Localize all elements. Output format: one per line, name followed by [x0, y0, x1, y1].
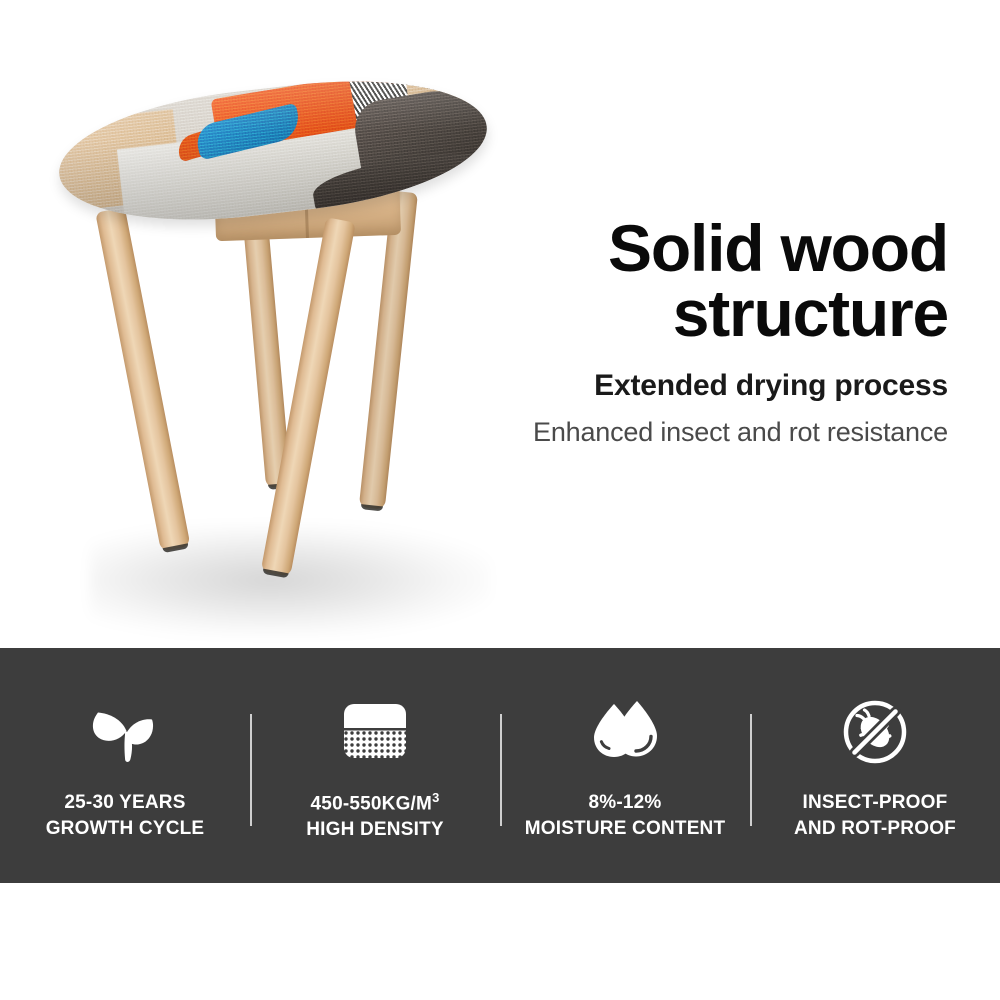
chair-leg-front-left [95, 207, 190, 551]
feature-bar: 25-30 YEARS GROWTH CYCLE 4 [0, 648, 1000, 883]
feature-label-line-1: 25-30 YEARS [46, 790, 205, 816]
no-insect-icon [833, 696, 917, 768]
feature-item-moisture: 8%-12% MOISTURE CONTENT [500, 648, 750, 883]
feature-label-line-2: GROWTH CYCLE [46, 816, 205, 842]
supporting-text: Enhanced insect and rot resistance [428, 417, 948, 448]
feature-label-line-1: 450-550KG/M3 [306, 789, 444, 817]
feature-label: 25-30 YEARS GROWTH CYCLE [46, 790, 205, 841]
product-feature-banner: Solid wood structure Extended drying pro… [0, 0, 1000, 1000]
feature-item-insect-proof: INSECT-PROOF AND ROT-PROOF [750, 648, 1000, 883]
feature-label: 450-550KG/M3 HIGH DENSITY [306, 789, 444, 843]
headline-line-1: Solid wood [428, 216, 948, 281]
hero-copy-block: Solid wood structure Extended drying pro… [428, 216, 948, 448]
feature-label: 8%-12% MOISTURE CONTENT [525, 790, 726, 841]
feature-item-growth-cycle: 25-30 YEARS GROWTH CYCLE [0, 648, 250, 883]
page-title: Solid wood structure [428, 216, 948, 347]
density-block-icon [333, 695, 417, 767]
feature-item-density: 450-550KG/M3 HIGH DENSITY [250, 648, 500, 883]
feature-label-line-1: INSECT-PROOF [794, 790, 956, 816]
feature-label-line-2: HIGH DENSITY [306, 817, 444, 843]
headline-line-2: structure [428, 281, 948, 346]
subheadline: Extended drying process [428, 369, 948, 403]
chair-leg-back-right [359, 191, 418, 510]
hero-section: Solid wood structure Extended drying pro… [0, 0, 1000, 648]
density-exponent: 3 [432, 790, 439, 805]
chair-seat-patchwork [52, 64, 493, 237]
water-droplets-icon [583, 696, 667, 768]
leaf-sprout-icon [83, 696, 167, 768]
feature-label-line-2: AND ROT-PROOF [794, 816, 956, 842]
density-value: 450-550KG/M [311, 793, 433, 814]
feature-label-line-2: MOISTURE CONTENT [525, 816, 726, 842]
feature-label: INSECT-PROOF AND ROT-PROOF [794, 790, 956, 841]
seat-shading [52, 64, 493, 237]
feature-label-line-1: 8%-12% [525, 790, 726, 816]
